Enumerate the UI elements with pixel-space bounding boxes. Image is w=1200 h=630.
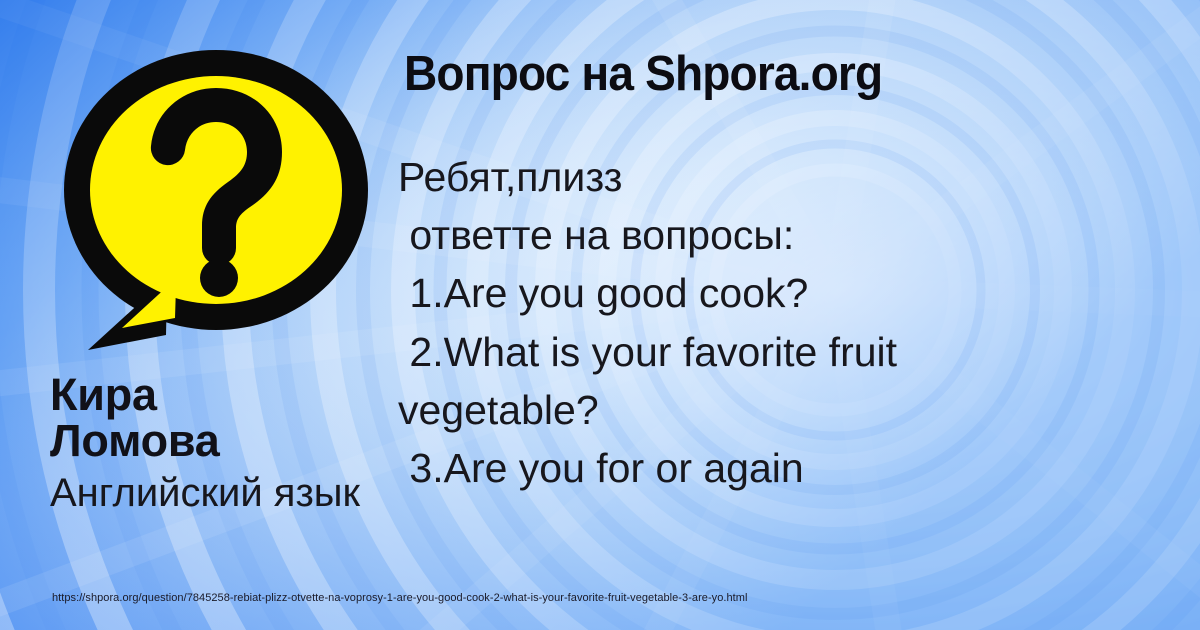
url-bar: https://shpora.org/question/7845258-rebi… xyxy=(0,588,1200,630)
source-url[interactable]: https://shpora.org/question/7845258-rebi… xyxy=(52,592,747,604)
share-card: Кира Ломова Английский язык Вопрос на Sh… xyxy=(0,0,1200,630)
question-speech-bubble-icon xyxy=(48,30,378,365)
question-text: Ребят,плизз ответте на вопросы: 1.Are yo… xyxy=(398,148,1098,497)
page-title: Вопрос на Shpora.org xyxy=(404,46,882,102)
question-icon-wrap xyxy=(48,30,378,365)
